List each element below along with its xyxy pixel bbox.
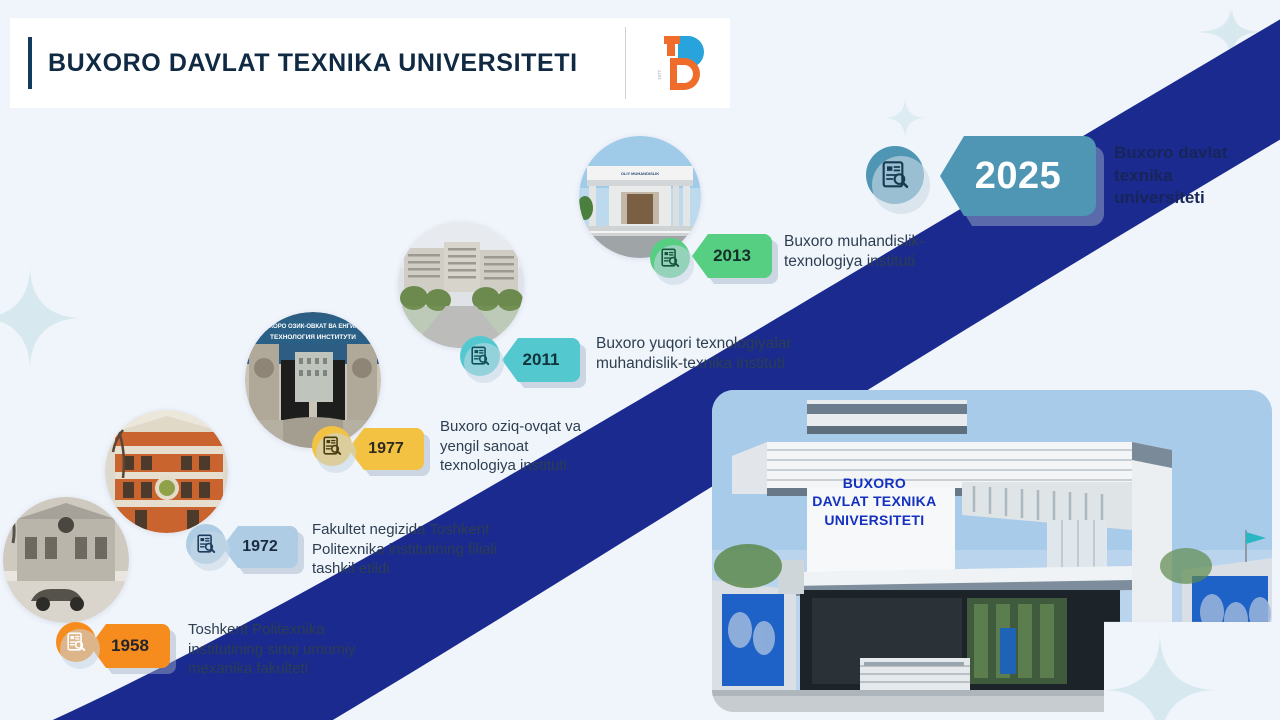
node-icon-1972[interactable]	[186, 524, 226, 564]
node-caption-1958: Toshkent Politexnika institutining sirtq…	[188, 620, 418, 679]
photo-1958-historic-building	[3, 497, 129, 623]
node-icon-2011[interactable]	[460, 336, 500, 376]
node-caption-1972: Fakultet negizida Toshkent Politexnika i…	[312, 520, 557, 579]
feature-year-label: 2025	[975, 155, 1062, 198]
year-label-1972: 1972	[242, 538, 278, 556]
header-card: BUXORO DAVLAT TEXNIKA UNIVERSITETI 1977	[10, 18, 730, 108]
feature-badge-2025[interactable]: 2025	[940, 136, 1096, 216]
bdtu-b-logo: 1977	[648, 30, 710, 96]
document-search-icon	[879, 159, 911, 191]
infographic-canvas: BUXORO DAVLAT TEXNIKA UNIVERSITETI 1977	[0, 0, 1280, 720]
page-title: BUXORO DAVLAT TEXNIKA UNIVERSITETI	[48, 49, 625, 78]
document-search-icon	[195, 533, 217, 555]
year-label-1958: 1958	[111, 636, 149, 656]
feature-node-icon-2025[interactable]	[866, 146, 924, 204]
node-icon-1958[interactable]	[56, 622, 96, 662]
hero-sign-text: BUXORO DAVLAT TEXNIKA UNIVERSITETI	[790, 474, 958, 529]
header-divider	[625, 27, 626, 99]
photo-2013-entrance: OLIY MUHANDISLIK	[579, 136, 701, 258]
year-label-1977: 1977	[368, 440, 404, 458]
document-search-icon	[469, 345, 491, 367]
photo-1977-institute-gate: БУХОРО ОЗИК-ОВКАТ ВА ЕНГИЛ С ТЕХНОЛОГИЯ …	[245, 312, 381, 448]
year-badge-2013[interactable]: 2013	[692, 234, 772, 278]
svg-text:БУХОРО ОЗИК-ОВКАТ ВА ЕНГИЛ С: БУХОРО ОЗИК-ОВКАТ ВА ЕНГИЛ С	[261, 324, 365, 330]
node-caption-2013: Buxoro muhandislik- texnologiya institut…	[784, 232, 1034, 272]
svg-text:1977: 1977	[657, 69, 662, 80]
year-badge-1977[interactable]: 1977	[348, 428, 424, 470]
document-search-icon	[65, 631, 87, 653]
node-caption-2011: Buxoro yuqori texnologiyalar muhandislik…	[596, 334, 896, 374]
svg-text:ТЕХНОЛОГИЯ ИНСТИТУТИ: ТЕХНОЛОГИЯ ИНСТИТУТИ	[270, 334, 356, 341]
year-badge-1972[interactable]: 1972	[222, 526, 298, 568]
year-badge-2011[interactable]: 2011	[502, 338, 580, 382]
header-accent-bar	[28, 37, 32, 89]
feature-caption-2025: Buxoro davlat texnika universiteti	[1114, 142, 1279, 210]
year-badge-1958[interactable]: 1958	[90, 624, 170, 668]
document-search-icon	[659, 247, 681, 269]
photo-1972-brick-building	[105, 410, 228, 533]
year-label-2013: 2013	[713, 246, 751, 266]
year-label-2011: 2011	[523, 350, 560, 370]
node-icon-2013[interactable]	[650, 238, 690, 278]
node-icon-1977[interactable]	[312, 426, 352, 466]
document-search-icon	[321, 435, 343, 457]
svg-text:OLIY MUHANDISLIK: OLIY MUHANDISLIK	[621, 171, 659, 176]
photo-2011-campus-avenue	[398, 222, 524, 348]
node-caption-1977: Buxoro oziq-ovqat va yengil sanoat texno…	[440, 417, 660, 476]
